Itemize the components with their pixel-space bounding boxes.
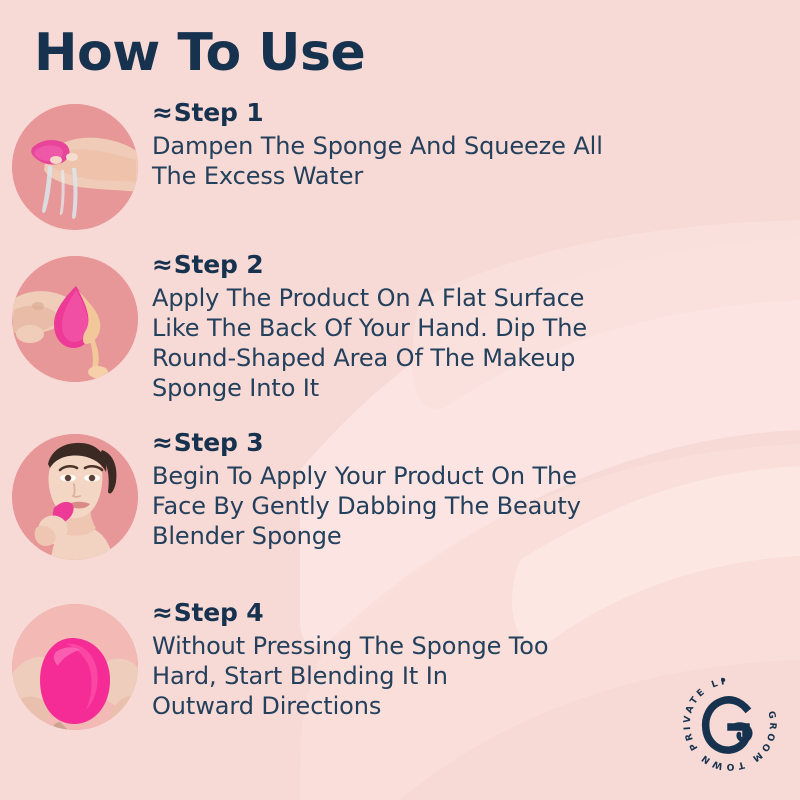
step-2-thumbnail-wrap	[0, 250, 150, 382]
step-item: ≈Step 2 Apply The Product On A Flat Surf…	[0, 250, 800, 428]
wave-icon: ≈	[152, 250, 173, 279]
step-item: ≈Step 1 Dampen The Sponge And Squeeze Al…	[0, 98, 800, 250]
steps-list: ≈Step 1 Dampen The Sponge And Squeeze Al…	[0, 98, 800, 758]
step-3-text: ≈Step 3 Begin To Apply Your Product On T…	[150, 428, 800, 551]
logo-monogram-g	[706, 700, 751, 750]
fingers-holding-sponge-photo	[12, 604, 138, 730]
step-4-label: ≈Step 4	[152, 598, 760, 628]
wave-icon: ≈	[152, 428, 173, 457]
step-3-body: Begin To Apply Your Product On The Face …	[152, 461, 760, 552]
step-4-label-text: Step 4	[174, 598, 264, 627]
hand-squeezing-wet-sponge-photo	[12, 104, 138, 230]
woman-applying-makeup-photo	[12, 434, 138, 560]
step-1-body: Dampen The Sponge And Squeeze All The Ex…	[152, 131, 760, 191]
page-title: How To Use	[34, 26, 365, 81]
step-1-label: ≈Step 1	[152, 98, 760, 128]
wave-icon: ≈	[152, 598, 173, 627]
step-item: ≈Step 3 Begin To Apply Your Product On T…	[0, 428, 800, 598]
step-4-body: Without Pressing The Sponge Too Hard, St…	[152, 631, 760, 722]
how-to-use-poster: How To Use	[0, 0, 800, 800]
step-3-label-text: Step 3	[174, 428, 264, 457]
step-1-text: ≈Step 1 Dampen The Sponge And Squeeze Al…	[150, 98, 800, 191]
step-2-text: ≈Step 2 Apply The Product On A Flat Surf…	[150, 250, 800, 403]
step-3-thumbnail-wrap	[0, 428, 150, 560]
step-1-label-text: Step 1	[174, 98, 264, 127]
step-2-label-text: Step 2	[174, 250, 264, 279]
sponge-dipped-in-foundation-photo	[12, 256, 138, 382]
wave-icon: ≈	[152, 98, 173, 127]
step-1-thumbnail-wrap	[0, 98, 150, 230]
step-2-body: Apply The Product On A Flat Surface Like…	[152, 283, 760, 404]
brand-logo: GROOM TOWN PRIVATE LIMITED •	[676, 670, 784, 778]
step-4-thumbnail-wrap	[0, 598, 150, 730]
step-3-label: ≈Step 3	[152, 428, 760, 458]
step-2-label: ≈Step 2	[152, 250, 760, 280]
